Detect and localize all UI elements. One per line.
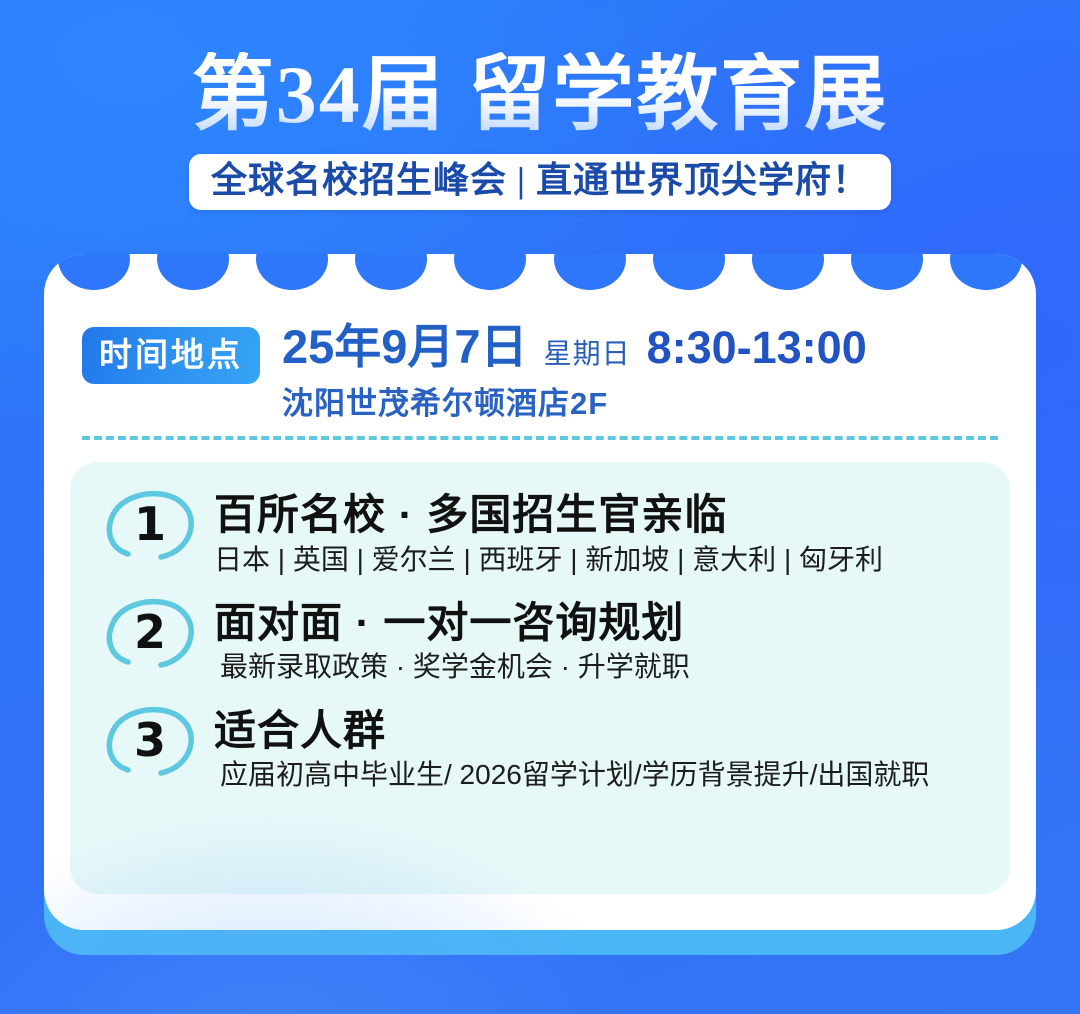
feature-title: 百所名校 · 多国招生官亲临 — [214, 490, 976, 540]
feature-number: 3 — [134, 717, 166, 765]
feature-item: 3适合人群应届初高中毕业生/ 2026留学计划/学历背景提升/出国就职 — [104, 704, 976, 794]
date-row: 25年9月7日 星期日 8:30-13:00 — [282, 322, 998, 374]
scallop-notch — [554, 254, 626, 290]
event-venue: 沈阳世茂希尔顿酒店2F — [282, 378, 998, 423]
features-panel: 1百所名校 · 多国招生官亲临日本 | 英国 | 爱尔兰 | 西班牙 | 新加坡… — [70, 462, 1010, 894]
scallop-notch — [58, 254, 130, 290]
info-card: 时间地点 25年9月7日 星期日 8:30-13:00 沈阳世茂希尔顿酒店2F … — [44, 254, 1036, 930]
feature-number-badge: 2 — [104, 596, 196, 670]
scallop-notch — [454, 254, 526, 290]
page-title: 第34届 留学教育展 — [0, 52, 1080, 138]
scallop-notch — [950, 254, 1022, 290]
scallop-notch — [851, 254, 923, 290]
scallop-notch — [256, 254, 328, 290]
feature-title: 适合人群 — [214, 706, 976, 756]
poster-root: 第34届 留学教育展 全球名校招生峰会 | 直通世界顶尖学府！ 时间地点 25年… — [0, 0, 1080, 1014]
time-location-block: 时间地点 25年9月7日 星期日 8:30-13:00 沈阳世茂希尔顿酒店2F — [82, 322, 998, 423]
feature-subtitle: 最新录取政策 · 奖学金机会 · 升学就职 — [214, 649, 976, 685]
feature-body: 适合人群应届初高中毕业生/ 2026留学计划/学历背景提升/出国就职 — [214, 704, 976, 794]
feature-number-badge: 3 — [104, 704, 196, 778]
feature-item: 1百所名校 · 多国招生官亲临日本 | 英国 | 爱尔兰 | 西班牙 | 新加坡… — [104, 488, 976, 578]
dashed-divider — [82, 436, 998, 440]
feature-item: 2面对面 · 一对一咨询规划最新录取政策 · 奖学金机会 · 升学就职 — [104, 596, 976, 686]
time-location-details: 25年9月7日 星期日 8:30-13:00 沈阳世茂希尔顿酒店2F — [282, 322, 998, 423]
time-location-badge: 时间地点 — [82, 327, 260, 384]
scallop-notch — [653, 254, 725, 290]
event-hours: 8:30-13:00 — [647, 322, 867, 374]
scallop-notch — [752, 254, 824, 290]
feature-subtitle: 应届初高中毕业生/ 2026留学计划/学历背景提升/出国就职 — [214, 757, 976, 793]
subtitle-text: 全球名校招生峰会 | 直通世界顶尖学府！ — [211, 161, 869, 201]
feature-number: 2 — [134, 609, 166, 657]
feature-subtitle: 日本 | 英国 | 爱尔兰 | 西班牙 | 新加坡 | 意大利 | 匈牙利 — [214, 542, 976, 578]
scalloped-edge — [44, 254, 1036, 298]
event-weekday: 星期日 — [544, 332, 631, 372]
feature-title: 面对面 · 一对一咨询规划 — [214, 598, 976, 648]
feature-number: 1 — [134, 501, 166, 549]
scallop-notch — [157, 254, 229, 290]
feature-number-badge: 1 — [104, 488, 196, 562]
feature-body: 面对面 · 一对一咨询规划最新录取政策 · 奖学金机会 · 升学就职 — [214, 596, 976, 686]
subtitle-pill: 全球名校招生峰会 | 直通世界顶尖学府！ — [189, 154, 891, 210]
feature-body: 百所名校 · 多国招生官亲临日本 | 英国 | 爱尔兰 | 西班牙 | 新加坡 … — [214, 488, 976, 578]
poster-header: 第34届 留学教育展 全球名校招生峰会 | 直通世界顶尖学府！ — [0, 0, 1080, 250]
scallop-notch — [355, 254, 427, 290]
event-date: 25年9月7日 — [282, 322, 528, 371]
